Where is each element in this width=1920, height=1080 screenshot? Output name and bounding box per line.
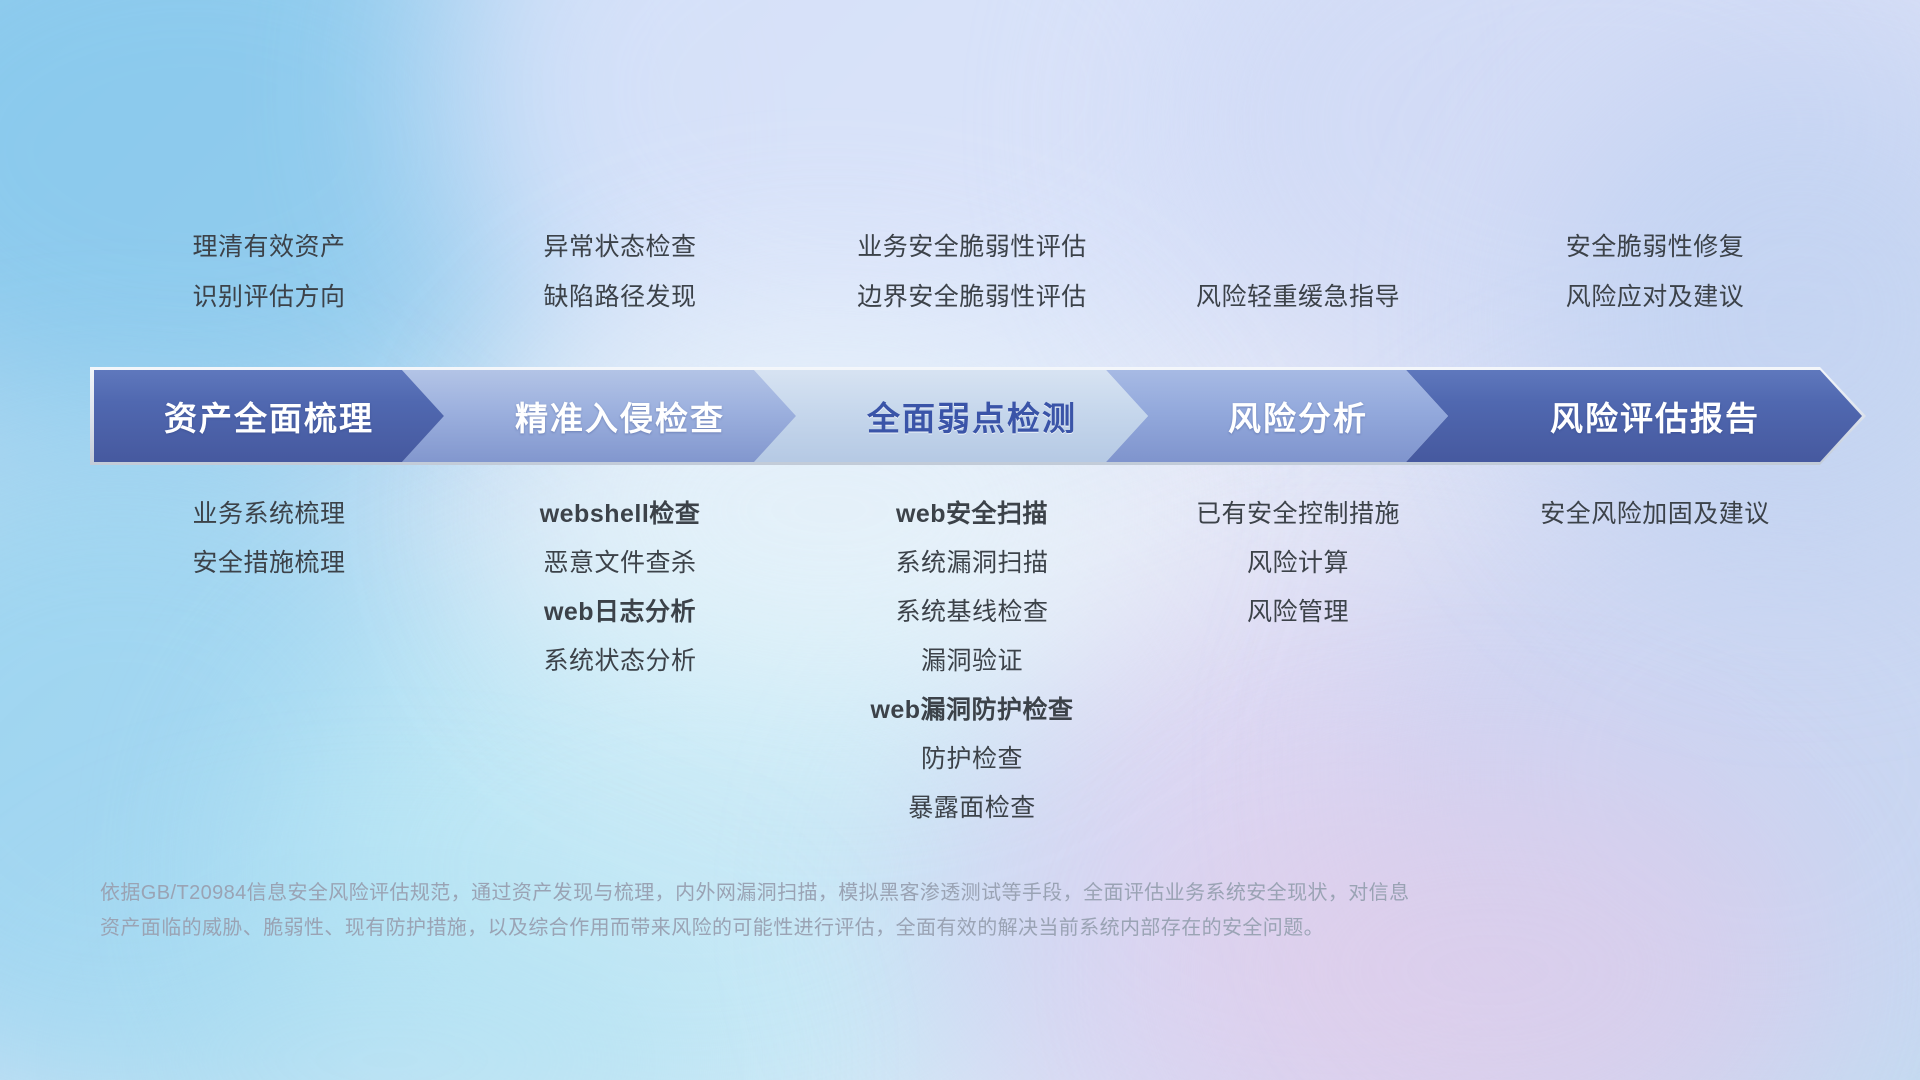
stage-output-item: 系统状态分析 bbox=[444, 637, 796, 686]
chevron-stage-risk-report[interactable]: 风险评估报告 bbox=[1406, 370, 1862, 462]
process-diagram: 理清有效资产识别评估方向异常状态检查缺陷路径发现业务安全脆弱性评估边界安全脆弱性… bbox=[0, 0, 1920, 1080]
chevron-stage-asset-inventory[interactable]: 资产全面梳理 bbox=[94, 370, 444, 462]
stage-output-item: web安全扫描 bbox=[796, 490, 1148, 539]
chevron-title-weakness-detection: 全面弱点检测 bbox=[867, 392, 1077, 440]
stage-output-item: web日志分析 bbox=[444, 588, 796, 637]
chevron-title-risk-analysis: 风险分析 bbox=[1228, 392, 1368, 440]
stage-output-item: 安全风险加固及建议 bbox=[1448, 490, 1862, 539]
stage-output-item: 业务系统梳理 bbox=[94, 490, 444, 539]
chevron-stage-intrusion-check[interactable]: 精准入侵检查 bbox=[402, 370, 796, 462]
stage-output-item: 恶意文件查杀 bbox=[444, 539, 796, 588]
footnote: 依据GB/T20984信息安全风险评估规范，通过资产发现与梳理，内外网漏洞扫描，… bbox=[100, 876, 1620, 946]
stage-output-item: 风险计算 bbox=[1148, 539, 1448, 588]
stage-output-item: 暴露面检查 bbox=[796, 784, 1148, 833]
chevron-band: 资产全面梳理精准入侵检查全面弱点检测风险分析风险评估报告 bbox=[0, 370, 1920, 462]
stage-output-item: 漏洞验证 bbox=[796, 637, 1148, 686]
chevron-title-asset-inventory: 资产全面梳理 bbox=[164, 392, 374, 440]
stage-output-item: 系统基线检查 bbox=[796, 588, 1148, 637]
stage-output-item: web漏洞防护检查 bbox=[796, 686, 1148, 735]
footnote-line-2: 资产面临的威胁、脆弱性、现有防护措施，以及综合作用而带来风险的可能性进行评估，全… bbox=[100, 911, 1620, 946]
stage-output-item: webshell检查 bbox=[444, 490, 796, 539]
chevron-stage-weakness-detection[interactable]: 全面弱点检测 bbox=[754, 370, 1148, 462]
stage-output-item: 系统漏洞扫描 bbox=[796, 539, 1148, 588]
stage-output-item: 已有安全控制措施 bbox=[1148, 490, 1448, 539]
stage-output-item: 安全措施梳理 bbox=[94, 539, 444, 588]
footnote-line-1: 依据GB/T20984信息安全风险评估规范，通过资产发现与梳理，内外网漏洞扫描，… bbox=[100, 876, 1620, 911]
chevron-stage-risk-analysis[interactable]: 风险分析 bbox=[1106, 370, 1448, 462]
stage-output-item: 防护检查 bbox=[796, 735, 1148, 784]
stage-output-item: 风险管理 bbox=[1148, 588, 1448, 637]
chevron-title-intrusion-check: 精准入侵检查 bbox=[515, 392, 725, 440]
chevron-title-risk-report: 风险评估报告 bbox=[1550, 392, 1760, 440]
